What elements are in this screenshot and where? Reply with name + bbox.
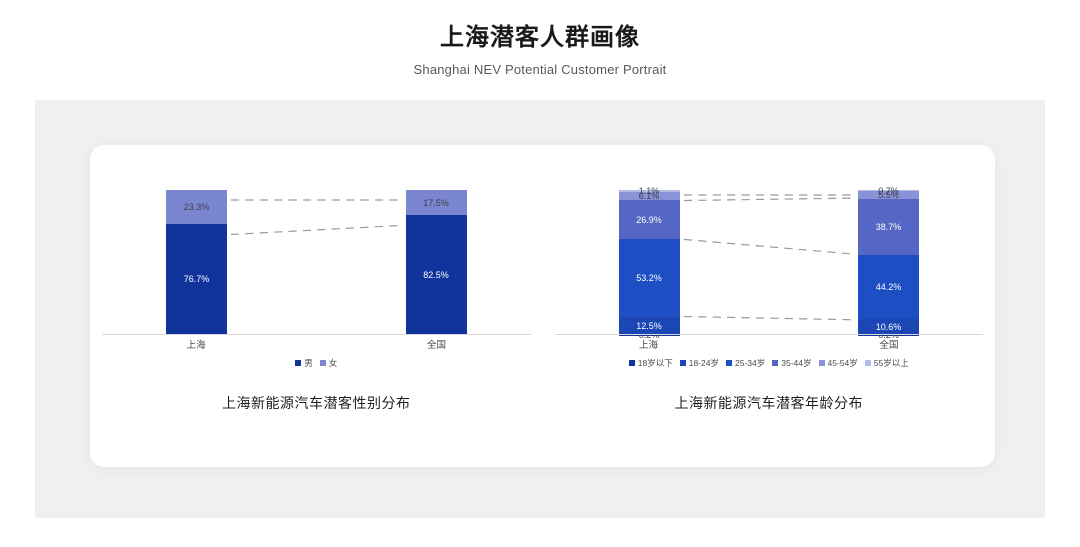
chart-gender-plot: 76.7% 23.3% 82.5% 17.5% (90, 190, 543, 335)
segment-age-over55-shanghai[interactable]: 1.1% (619, 190, 680, 192)
charts-row: 76.7% 23.3% 82.5% 17.5% (90, 145, 995, 467)
segment-value-label: 23.3% (184, 202, 210, 212)
legend-item-35-44[interactable]: 35-44岁 (772, 357, 811, 369)
segment-value-label: 82.5% (423, 270, 449, 280)
segment-age-35-44-shanghai[interactable]: 26.9% (619, 200, 680, 239)
chart-age-categories: 上海 全国 (543, 337, 996, 353)
legend-label: 18岁以下 (638, 357, 673, 369)
segment-value-label: 6.1% (639, 191, 660, 201)
legend-item-18-24[interactable]: 18-24岁 (680, 357, 719, 369)
segment-value-label: 17.5% (423, 198, 449, 208)
segment-age-35-44-national[interactable]: 38.7% (858, 199, 919, 255)
legend-swatch-icon (819, 360, 825, 366)
legend-item-female[interactable]: 女 (320, 357, 338, 369)
segment-value-label: 53.2% (636, 273, 662, 283)
segment-value-label: 76.7% (184, 274, 210, 284)
segment-age-18-24-shanghai[interactable]: 12.5% (619, 317, 680, 335)
segment-value-label: 12.5% (636, 321, 662, 331)
bar-age-shanghai[interactable]: 0.2% 12.5% 53.2% 26.9% 6.1% (619, 190, 680, 335)
bar-age-national[interactable]: 0.2% 10.6% 44.2% 38.7% 5.5% (858, 190, 919, 335)
legend-label: 25-34岁 (735, 357, 765, 369)
legend-item-25-34[interactable]: 25-34岁 (726, 357, 765, 369)
segment-value-label: 44.2% (876, 282, 902, 292)
legend-label: 18-24岁 (689, 357, 719, 369)
segment-value-label: 5.5% (878, 190, 899, 200)
chart-gender: 76.7% 23.3% 82.5% 17.5% (90, 145, 543, 467)
segment-gender-female-shanghai[interactable]: 23.3% (166, 190, 227, 224)
bar-gender-national[interactable]: 82.5% 17.5% (406, 190, 467, 335)
segment-age-45-54-national[interactable]: 5.5% (858, 191, 919, 199)
category-label-shanghai: 上海 (609, 337, 689, 351)
category-label-national: 全国 (849, 337, 929, 351)
chart-age-caption: 上海新能源汽车潜客年龄分布 (543, 393, 996, 413)
chart-gender-axis (102, 334, 531, 335)
segment-gender-female-national[interactable]: 17.5% (406, 190, 467, 215)
category-label-national: 全国 (397, 337, 477, 351)
legend-item-male[interactable]: 男 (295, 357, 313, 369)
legend-label: 女 (329, 357, 338, 369)
legend-swatch-icon (680, 360, 686, 366)
segment-gender-male-shanghai[interactable]: 76.7% (166, 224, 227, 335)
chart-age-connectors (543, 190, 996, 335)
legend-label: 55岁以上 (874, 357, 909, 369)
segment-gender-male-national[interactable]: 82.5% (406, 215, 467, 335)
segment-age-25-34-national[interactable]: 44.2% (858, 255, 919, 319)
page-header: 上海潜客人群画像 Shanghai NEV Potential Customer… (0, 0, 1080, 77)
content-panel: 76.7% 23.3% 82.5% 17.5% (35, 100, 1045, 518)
segment-value-label: 26.9% (636, 215, 662, 225)
legend-swatch-icon (320, 360, 326, 366)
chart-gender-caption: 上海新能源汽车潜客性别分布 (90, 393, 543, 413)
segment-age-over55-national[interactable]: 0.7% (858, 190, 919, 191)
segment-age-45-54-shanghai[interactable]: 6.1% (619, 192, 680, 201)
page-title: 上海潜客人群画像 (0, 24, 1080, 53)
chart-age-axis (555, 334, 984, 335)
legend-swatch-icon (772, 360, 778, 366)
chart-age-legend: 18岁以下 18-24岁 25-34岁 35-44岁 (543, 357, 996, 369)
category-label-shanghai: 上海 (156, 337, 236, 351)
chart-gender-categories: 上海 全国 (90, 337, 543, 353)
legend-swatch-icon (295, 360, 301, 366)
legend-swatch-icon (629, 360, 635, 366)
legend-label: 男 (304, 357, 313, 369)
chart-age-plot: 0.2% 12.5% 53.2% 26.9% 6.1% (543, 190, 996, 335)
segment-value-label: 10.6% (876, 322, 902, 332)
segment-age-18-24-national[interactable]: 10.6% (858, 319, 919, 334)
legend-swatch-icon (865, 360, 871, 366)
bar-gender-shanghai[interactable]: 76.7% 23.3% (166, 190, 227, 335)
legend-item-45-54[interactable]: 45-54岁 (819, 357, 858, 369)
page-subtitle: Shanghai NEV Potential Customer Portrait (0, 62, 1080, 77)
segment-age-25-34-shanghai[interactable]: 53.2% (619, 239, 680, 316)
chart-gender-legend: 男 女 (90, 357, 543, 369)
legend-label: 35-44岁 (781, 357, 811, 369)
chart-age: 0.2% 12.5% 53.2% 26.9% 6.1% (543, 145, 996, 467)
legend-swatch-icon (726, 360, 732, 366)
legend-item-over55[interactable]: 55岁以上 (865, 357, 909, 369)
segment-value-label: 38.7% (876, 222, 902, 232)
legend-label: 45-54岁 (828, 357, 858, 369)
chart-gender-connectors (90, 190, 543, 335)
charts-card: 76.7% 23.3% 82.5% 17.5% (90, 145, 995, 467)
legend-item-under18[interactable]: 18岁以下 (629, 357, 673, 369)
